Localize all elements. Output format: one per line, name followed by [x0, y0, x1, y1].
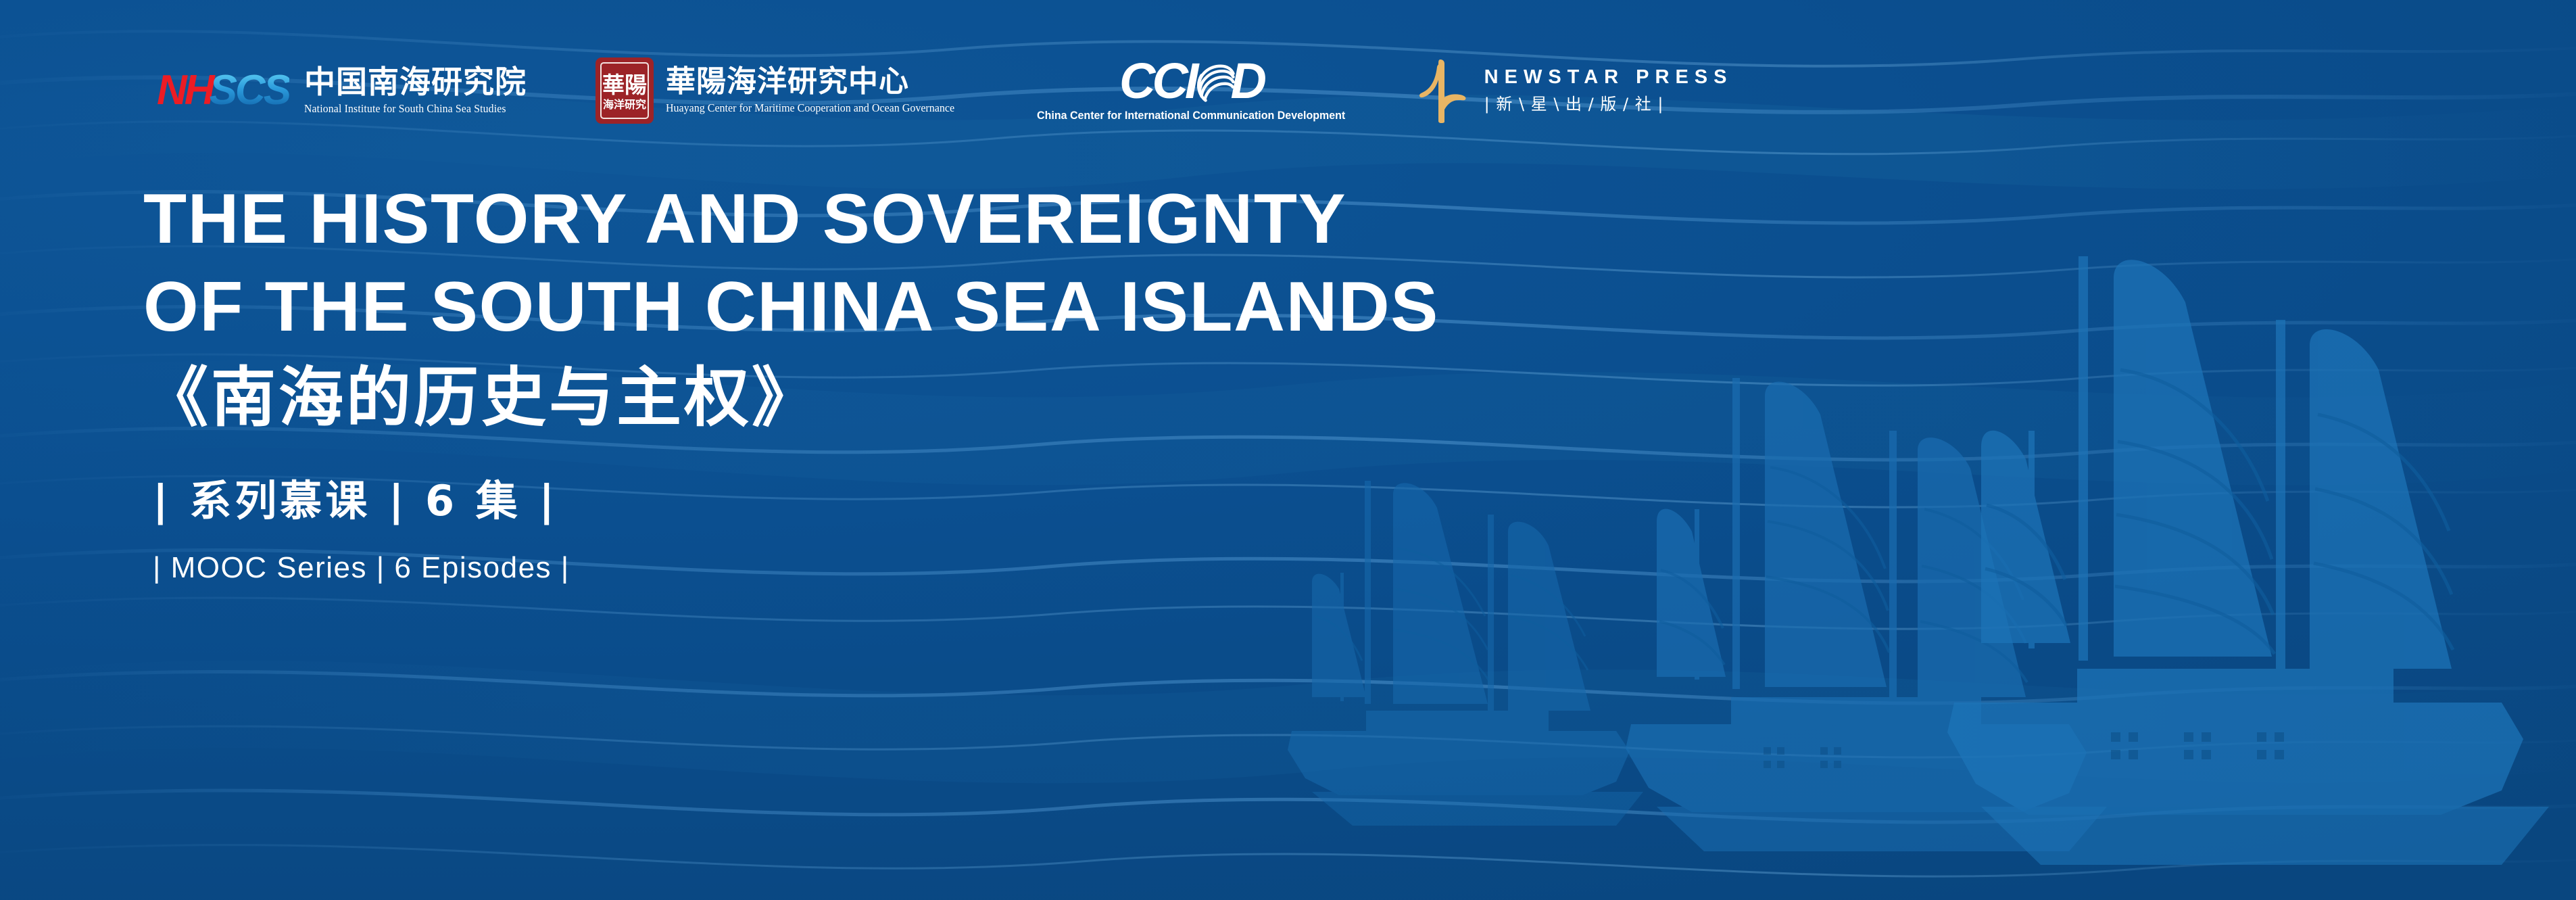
nhscs-wordmark: NH SCS: [157, 70, 289, 112]
chinese-junk-ship-icon: [1927, 176, 2576, 900]
ccicd-globe-icon: [1193, 60, 1235, 102]
huayang-seal-bottom: 海洋研究: [603, 99, 646, 110]
nhscs-name-block: 中国南海研究院 National Institute for South Chi…: [304, 66, 527, 115]
newstar-english-name: NEWSTAR PRESS: [1484, 67, 1733, 89]
ccicd-mark-right: D: [1231, 56, 1263, 106]
newstar-press-logo[interactable]: NEWSTAR PRESS | 新 \ 星 \ 出 / 版 / 社 |: [1419, 53, 1733, 128]
nhscs-english-name: National Institute for South China Sea S…: [304, 102, 516, 116]
nhscs-mark-red: NH: [157, 70, 212, 112]
nhscs-mark-blue: SCS: [210, 70, 289, 112]
ccicd-logo[interactable]: CCI D China Center for International Com…: [1032, 53, 1350, 128]
huayang-name-block: 華陽海洋研究中心 Huayang Center for Maritime Coo…: [666, 66, 963, 115]
ccicd-mark-left: CCI: [1119, 56, 1195, 106]
newstar-chinese-name: | 新 \ 星 \ 出 / 版 / 社 |: [1484, 95, 1733, 114]
nhscs-logo[interactable]: NH SCS 中国南海研究院 National Institute for So…: [157, 53, 527, 128]
huayang-seal-icon: 華陽 海洋研究: [596, 57, 654, 124]
nhscs-chinese-name: 中国南海研究院: [304, 66, 527, 98]
page-title-chinese: 《南海的历史与主权》: [143, 365, 1426, 430]
huayang-seal-top: 華陽: [602, 74, 647, 96]
hero-copy: THE HISTORY AND SOVEREIGNTY OF THE SOUTH…: [143, 184, 1426, 583]
newstar-name-block: NEWSTAR PRESS | 新 \ 星 \ 出 / 版 / 社 |: [1484, 67, 1733, 114]
huayang-english-name: Huayang Center for Maritime Cooperation …: [666, 101, 954, 115]
promo-banner: NH SCS 中国南海研究院 National Institute for So…: [0, 0, 2576, 900]
subtitle-english: | MOOC Series | 6 Episodes |: [153, 553, 1426, 583]
page-title-line2: OF THE SOUTH CHINA SEA ISLANDS: [143, 272, 1439, 342]
ccicd-english-name: China Center for International Communica…: [1037, 110, 1345, 122]
page-title-line1: THE HISTORY AND SOVEREIGNTY: [143, 184, 1439, 254]
subtitle-chinese: | 系列慕课 | 6 集 |: [153, 480, 1426, 522]
huayang-chinese-name: 華陽海洋研究中心: [666, 66, 963, 97]
ccicd-wordmark: CCI D: [1119, 59, 1263, 103]
partner-logo-bar: NH SCS 中国南海研究院 National Institute for So…: [157, 53, 1732, 128]
huayang-logo[interactable]: 華陽 海洋研究 華陽海洋研究中心 Huayang Center for Mari…: [596, 53, 963, 128]
newstar-mark-icon: [1419, 57, 1468, 124]
